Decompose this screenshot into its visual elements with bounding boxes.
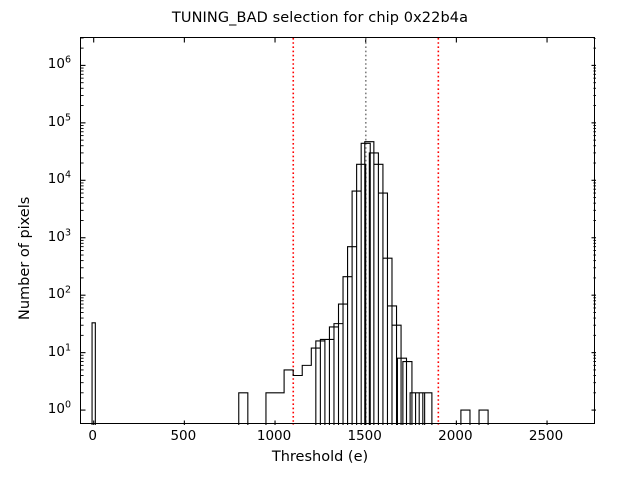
plot-area <box>80 37 595 424</box>
y-tick-label: 104 <box>0 171 71 187</box>
y-tick-label: 105 <box>0 114 71 130</box>
y-tick-label: 106 <box>0 56 71 72</box>
x-tick-label: 2000 <box>438 428 472 444</box>
y-tick-label: 102 <box>0 286 71 302</box>
chart-title: TUNING_BAD selection for chip 0x22b4a <box>0 10 640 26</box>
figure-canvas: TUNING_BAD selection for chip 0x22b4a Nu… <box>0 0 640 480</box>
x-axis-label: Threshold (e) <box>0 449 640 465</box>
x-tick-label: 0 <box>88 428 97 444</box>
y-tick-label: 100 <box>0 401 71 417</box>
y-tick-label: 103 <box>0 229 71 245</box>
histogram-svg <box>81 38 596 425</box>
x-tick-label: 2500 <box>529 428 563 444</box>
x-tick-label: 1000 <box>257 428 291 444</box>
x-tick-label: 500 <box>170 428 196 444</box>
histogram-step-line <box>92 142 488 425</box>
x-tick-label: 1500 <box>348 428 382 444</box>
y-tick-label: 101 <box>0 344 71 360</box>
